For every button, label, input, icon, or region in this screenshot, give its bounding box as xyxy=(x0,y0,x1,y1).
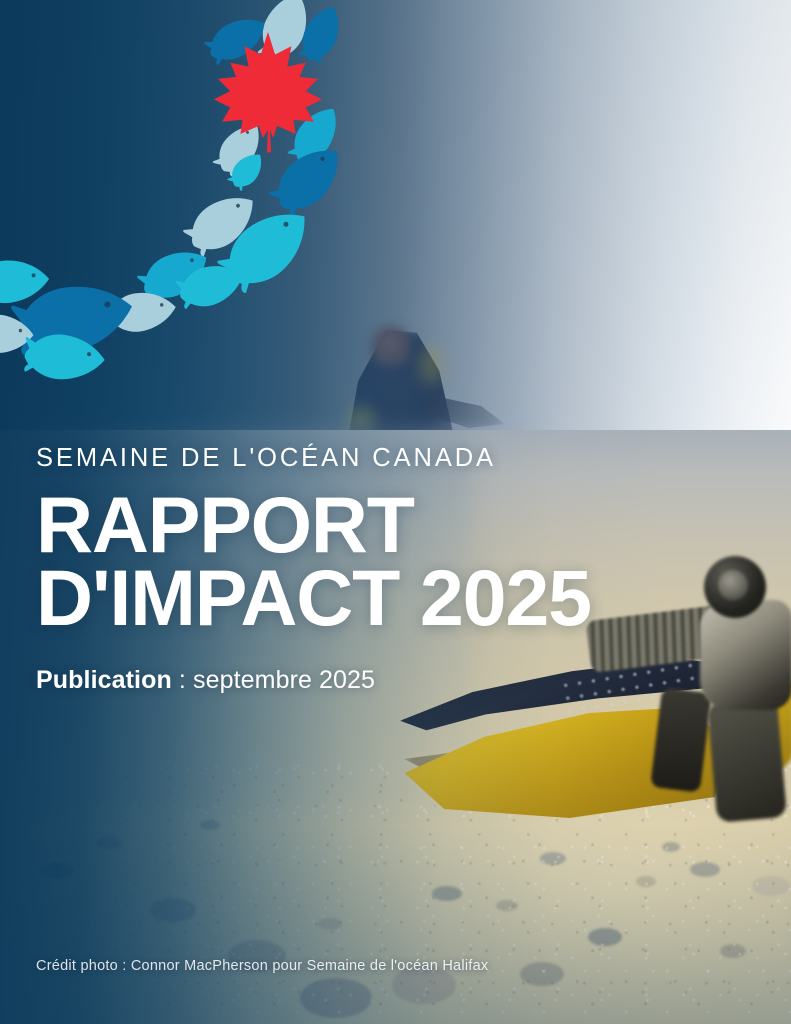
fish-school-maple-leaf-logo xyxy=(0,0,338,392)
title-line-2: D'IMPACT 2025 xyxy=(36,561,776,634)
cover-text-block: SEMAINE DE L'OCÉAN CANADA RAPPORT D'IMPA… xyxy=(36,446,776,695)
publication-date: Publication : septembre 2025 xyxy=(36,666,776,695)
cover-eyebrow: SEMAINE DE L'OCÉAN CANADA xyxy=(36,446,776,472)
page-title: RAPPORT D'IMPACT 2025 xyxy=(36,488,776,635)
publication-label: Publication xyxy=(36,666,172,694)
bottom-tint-overlay xyxy=(0,824,791,1024)
publication-value: : septembre 2025 xyxy=(172,666,375,694)
report-cover-page: SEMAINE DE L'OCÉAN CANADA RAPPORT D'IMPA… xyxy=(0,0,791,1024)
fish-group xyxy=(0,0,353,382)
photo-credit: Crédit photo : Connor MacPherson pour Se… xyxy=(36,958,488,974)
